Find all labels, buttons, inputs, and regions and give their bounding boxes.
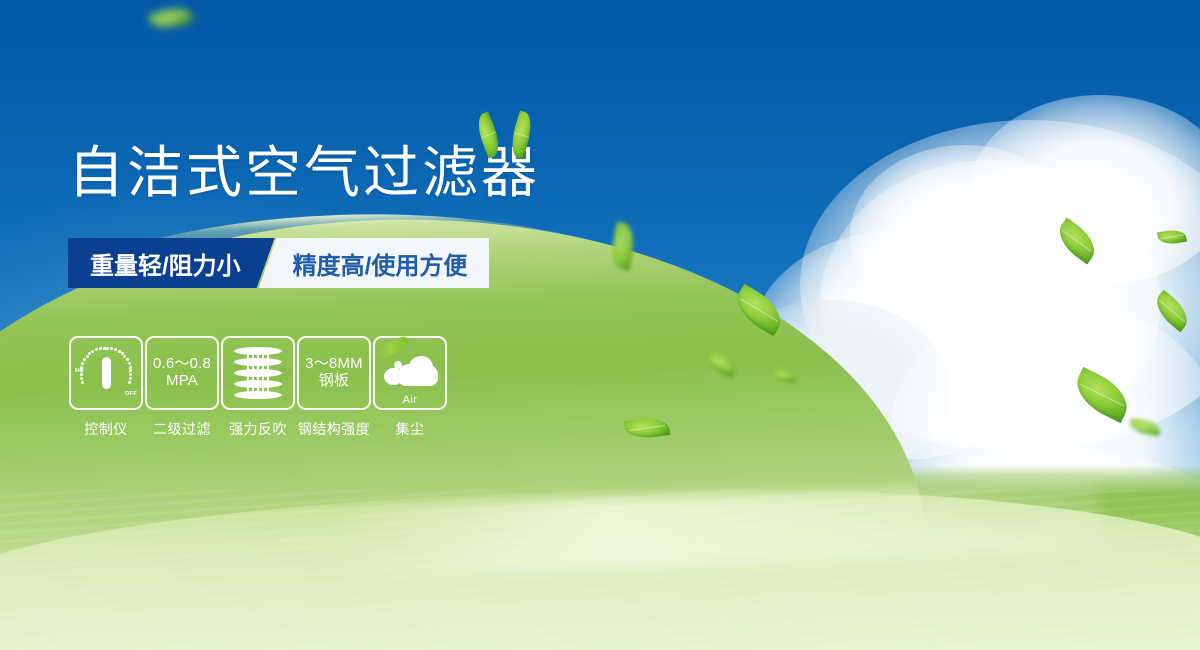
feature-item-dust-collection[interactable]: Air 集尘 <box>372 336 448 439</box>
gauge-dot <box>103 347 106 350</box>
gauge-dot <box>129 369 132 372</box>
gauge-dot <box>83 358 86 361</box>
feature-item-control-dial[interactable]: NO OFF 控制仪 <box>68 336 144 439</box>
steel-line-2: 钢板 <box>319 373 349 390</box>
gauge-dot <box>81 362 84 365</box>
gauge-off-label: OFF <box>125 391 137 397</box>
gauge-dot <box>88 352 91 355</box>
gauge-dot <box>110 347 113 350</box>
grass-texture <box>0 490 1200 650</box>
feature-list: NO OFF 控制仪 0.6～0.8 MPA 二级过滤 <box>68 336 448 439</box>
stack-ring <box>234 358 282 366</box>
leaf-vein <box>774 373 794 377</box>
leaf-streak-icon <box>375 335 410 361</box>
steel-line-1: 3～8MM <box>305 356 363 373</box>
feature-label: 二级过滤 <box>144 419 220 439</box>
pressure-line-2: MPA <box>166 373 198 390</box>
dust-particle <box>403 367 408 372</box>
leaf-vein <box>629 425 666 431</box>
gauge-on-label: NO <box>75 368 84 374</box>
air-cloud-icon: Air <box>373 336 447 410</box>
gauge-dot <box>129 373 132 376</box>
stack-ring <box>234 391 282 399</box>
gauge-dot <box>91 350 94 353</box>
pressure-value-icon: 0.6～0.8 MPA <box>145 336 219 410</box>
feature-label: 强力反吹 <box>220 419 296 439</box>
subtitle-left-text: 重量轻/阻力小 <box>90 246 241 281</box>
stack-ring <box>234 380 282 388</box>
gauge-switch <box>102 357 111 389</box>
gauge-dot <box>86 355 89 358</box>
leaf-vein <box>1080 384 1124 406</box>
gauge-graphic: NO OFF <box>75 344 137 402</box>
stack-ring <box>234 369 282 377</box>
feature-item-pressure[interactable]: 0.6～0.8 MPA 二级过滤 <box>144 336 220 439</box>
gauge-dot <box>126 358 129 361</box>
subtitle-right-text: 精度高/使用方便 <box>293 246 468 281</box>
leaf-vein <box>1160 234 1183 239</box>
gauge-dot <box>81 381 84 384</box>
gauge-dot <box>95 348 98 351</box>
gauge-dot <box>80 377 83 380</box>
cloud-graphic: Air <box>382 352 438 394</box>
gauge-dot <box>129 377 132 380</box>
gauge-dot <box>99 347 102 350</box>
leaf-vein <box>482 132 496 138</box>
leaf-vein <box>515 132 529 137</box>
feature-item-steel-plate[interactable]: 3～8MM 钢板 钢结构强度 <box>296 336 372 439</box>
feature-item-blowback[interactable]: 强力反吹 <box>220 336 296 439</box>
dust-particle <box>394 361 402 369</box>
feature-label: 钢结构强度 <box>296 419 372 439</box>
blowback-stack-icon <box>221 336 295 410</box>
gauge-dot <box>106 347 109 350</box>
feature-label: 集尘 <box>372 419 448 439</box>
leaf-vein <box>1132 425 1157 429</box>
product-hero-banner: 自洁式空气过滤器 重量轻/阻力小 精度高/使用方便 NO OFF 控制仪 <box>0 0 1200 650</box>
pressure-line-1: 0.6～0.8 <box>153 356 211 373</box>
subtitle-segment-right: 精度高/使用方便 <box>259 238 490 288</box>
gauge-dot <box>128 362 131 365</box>
feature-label: 控制仪 <box>68 419 144 439</box>
dust-particle <box>389 371 393 375</box>
leaf-vein <box>614 244 632 249</box>
leaf-vein <box>154 12 188 24</box>
gauge-dot <box>114 348 117 351</box>
gauge-dot <box>129 366 132 369</box>
page-title: 自洁式空气过滤器 <box>68 143 540 203</box>
air-text: Air <box>382 394 438 406</box>
filter-stack-graphic <box>234 347 282 399</box>
stack-ring <box>234 347 282 355</box>
control-dial-icon: NO OFF <box>69 336 143 410</box>
subtitle-bar: 重量轻/阻力小 精度高/使用方便 <box>68 238 489 288</box>
gauge-dot <box>128 381 131 384</box>
steel-plate-icon: 3～8MM 钢板 <box>297 336 371 410</box>
subtitle-segment-left: 重量轻/阻力小 <box>68 238 275 288</box>
